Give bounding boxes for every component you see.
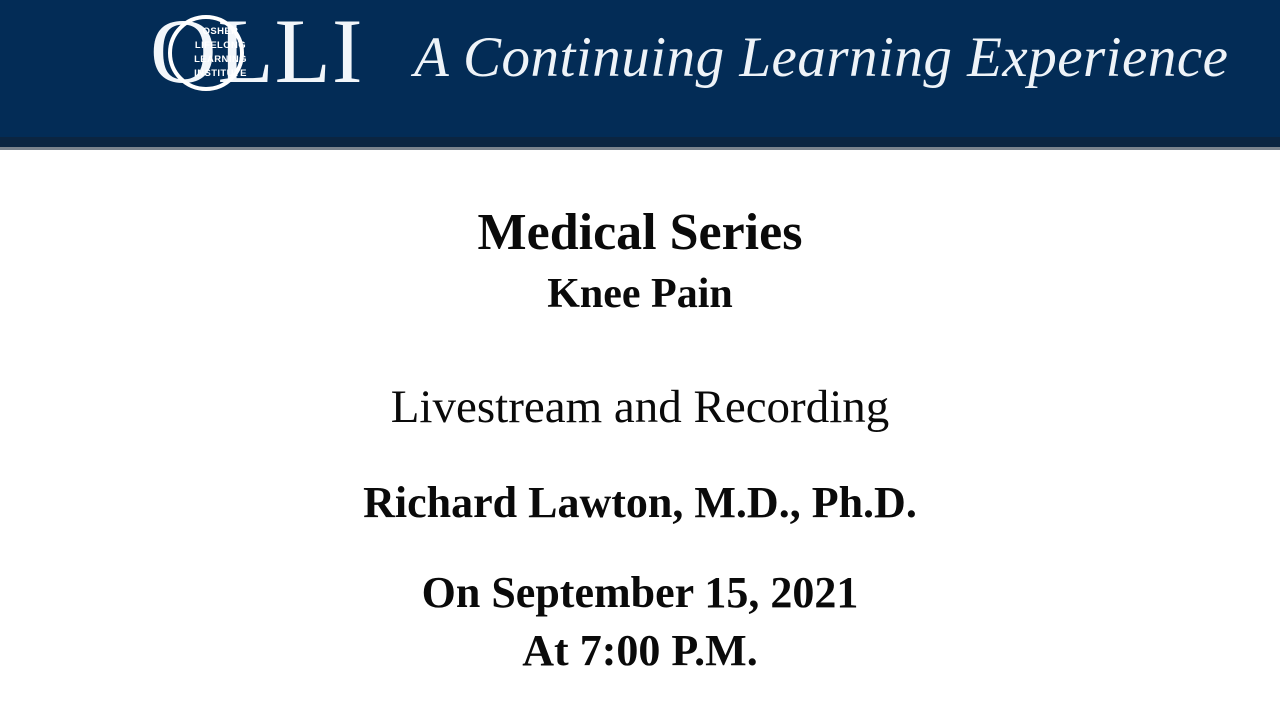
event-time: At 7:00 P.M. [0,624,1280,678]
header-banner: OLLI OSHER LIFELONG LEARNING INSTITUTE A… [0,0,1280,150]
olli-ring-text-line-1: OSHER [178,25,263,39]
topic-title: Knee Pain [0,268,1280,320]
olli-logo: OLLI OSHER LIFELONG LEARNING INSTITUTE [150,5,390,97]
slide-body: Medical Series Knee Pain Livestream and … [0,150,1280,720]
olli-ring-text-line-4: INSTITUTE [178,67,263,81]
presentation-slide: OLLI OSHER LIFELONG LEARNING INSTITUTE A… [0,0,1280,720]
format-subtitle: Livestream and Recording [0,378,1280,436]
header-banner-accent-strip [0,137,1280,147]
olli-ring-text: OSHER LIFELONG LEARNING INSTITUTE [178,25,263,81]
header-tagline: A Continuing Learning Experience [414,25,1228,91]
olli-ring-text-line-3: LEARNING [178,53,263,67]
olli-ring-text-line-2: LIFELONG [178,39,263,53]
speaker-name: Richard Lawton, M.D., Ph.D. [0,476,1280,530]
series-title: Medical Series [0,202,1280,264]
event-date: On September 15, 2021 [0,566,1280,620]
